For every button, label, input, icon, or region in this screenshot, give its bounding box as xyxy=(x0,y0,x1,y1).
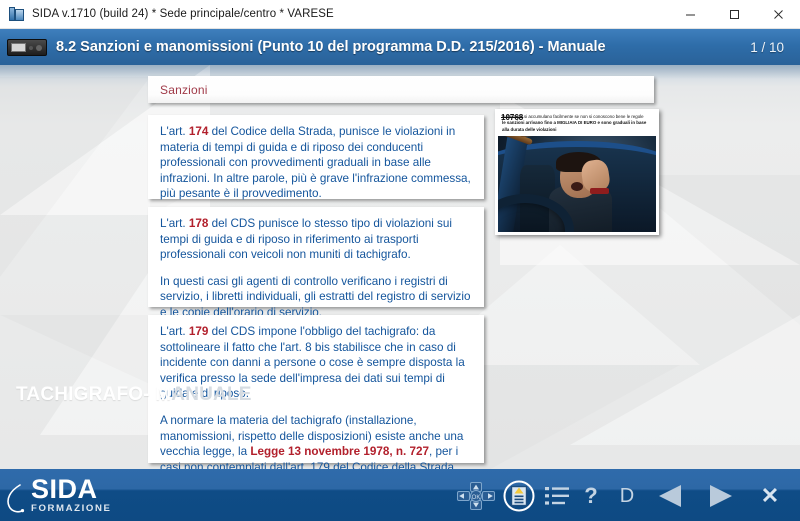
page-counter: 1 / 10 xyxy=(750,40,784,55)
next-button[interactable] xyxy=(694,478,748,514)
application-window: SIDA v.1710 (build 24) * Sede principale… xyxy=(0,0,800,521)
photo-number-overlay: 10768 xyxy=(501,113,523,122)
sida-logo-text: SIDA FORMAZIONE xyxy=(31,476,112,517)
tachograph-icon xyxy=(7,39,47,56)
window-controls xyxy=(668,0,800,29)
help-button[interactable]: ? xyxy=(574,478,608,514)
maximize-button[interactable] xyxy=(712,0,756,29)
section-header: 8.2 Sanzioni e manomissioni (Punto 10 de… xyxy=(0,29,800,65)
sida-app-icon xyxy=(9,6,25,22)
highlighted-text: 174 xyxy=(189,125,209,138)
dpad-navigation[interactable]: OK xyxy=(454,478,498,514)
text-block-1: L'art. 174 del Codice della Strada, puni… xyxy=(148,115,484,199)
window-title: SIDA v.1710 (build 24) * Sede principale… xyxy=(32,8,334,20)
notes-button[interactable] xyxy=(498,478,540,514)
svg-text:OK: OK xyxy=(472,495,481,501)
slide-title-bar: Sanzioni xyxy=(148,76,654,103)
dictionary-button[interactable]: D xyxy=(608,478,646,514)
photo-caption-line2: le sanzioni arrivano fino a MIGLIAIA DI … xyxy=(502,120,652,133)
paragraph: L'art. 178 del CDS punisce lo stesso tip… xyxy=(160,216,473,263)
sida-logo-sub: FORMAZIONE xyxy=(31,504,112,514)
sida-logo-name: SIDA xyxy=(31,476,112,503)
body-text: L'art. xyxy=(160,125,189,138)
navigation-toolbar: OK ? D xyxy=(454,478,792,514)
sida-logo: SIDA FORMAZIONE xyxy=(6,475,112,517)
watermark-part-a: TACHIGRAFO- M xyxy=(16,384,171,405)
previous-button[interactable] xyxy=(646,478,694,514)
bg-polygon xyxy=(480,365,680,469)
watermark: TACHIGRAFO- MANUALE xyxy=(16,384,252,406)
driver-yawning-photo: le sanzioni si accumulano facilmente se … xyxy=(495,109,659,235)
body-text: In questi casi gli agenti di controllo v… xyxy=(160,275,470,319)
exit-button[interactable]: ✕ xyxy=(748,478,792,514)
text-block-2: L'art. 178 del CDS punisce lo stesso tip… xyxy=(148,207,484,307)
paragraph: In questi casi gli agenti di controllo v… xyxy=(160,274,473,321)
highlighted-text: 178 xyxy=(189,217,209,230)
slide-title-label: Sanzioni xyxy=(160,83,208,97)
window-title-bar: SIDA v.1710 (build 24) * Sede principale… xyxy=(0,0,800,29)
minimize-button[interactable] xyxy=(668,0,712,29)
paragraph: L'art. 174 del Codice della Strada, puni… xyxy=(160,124,473,202)
body-text: L'art. xyxy=(160,325,189,338)
bg-polygon xyxy=(0,77,150,277)
index-button[interactable] xyxy=(540,478,574,514)
close-button[interactable] xyxy=(756,0,800,29)
highlighted-text: 179 xyxy=(189,325,209,338)
highlighted-text: Legge 13 novembre 1978, n. 727 xyxy=(250,445,429,458)
page-title: 8.2 Sanzioni e manomissioni (Punto 10 de… xyxy=(56,39,606,55)
sida-swoosh-icon xyxy=(6,483,28,517)
body-text: L'art. xyxy=(160,217,189,230)
watermark-part-b: ANUALE xyxy=(171,384,251,405)
